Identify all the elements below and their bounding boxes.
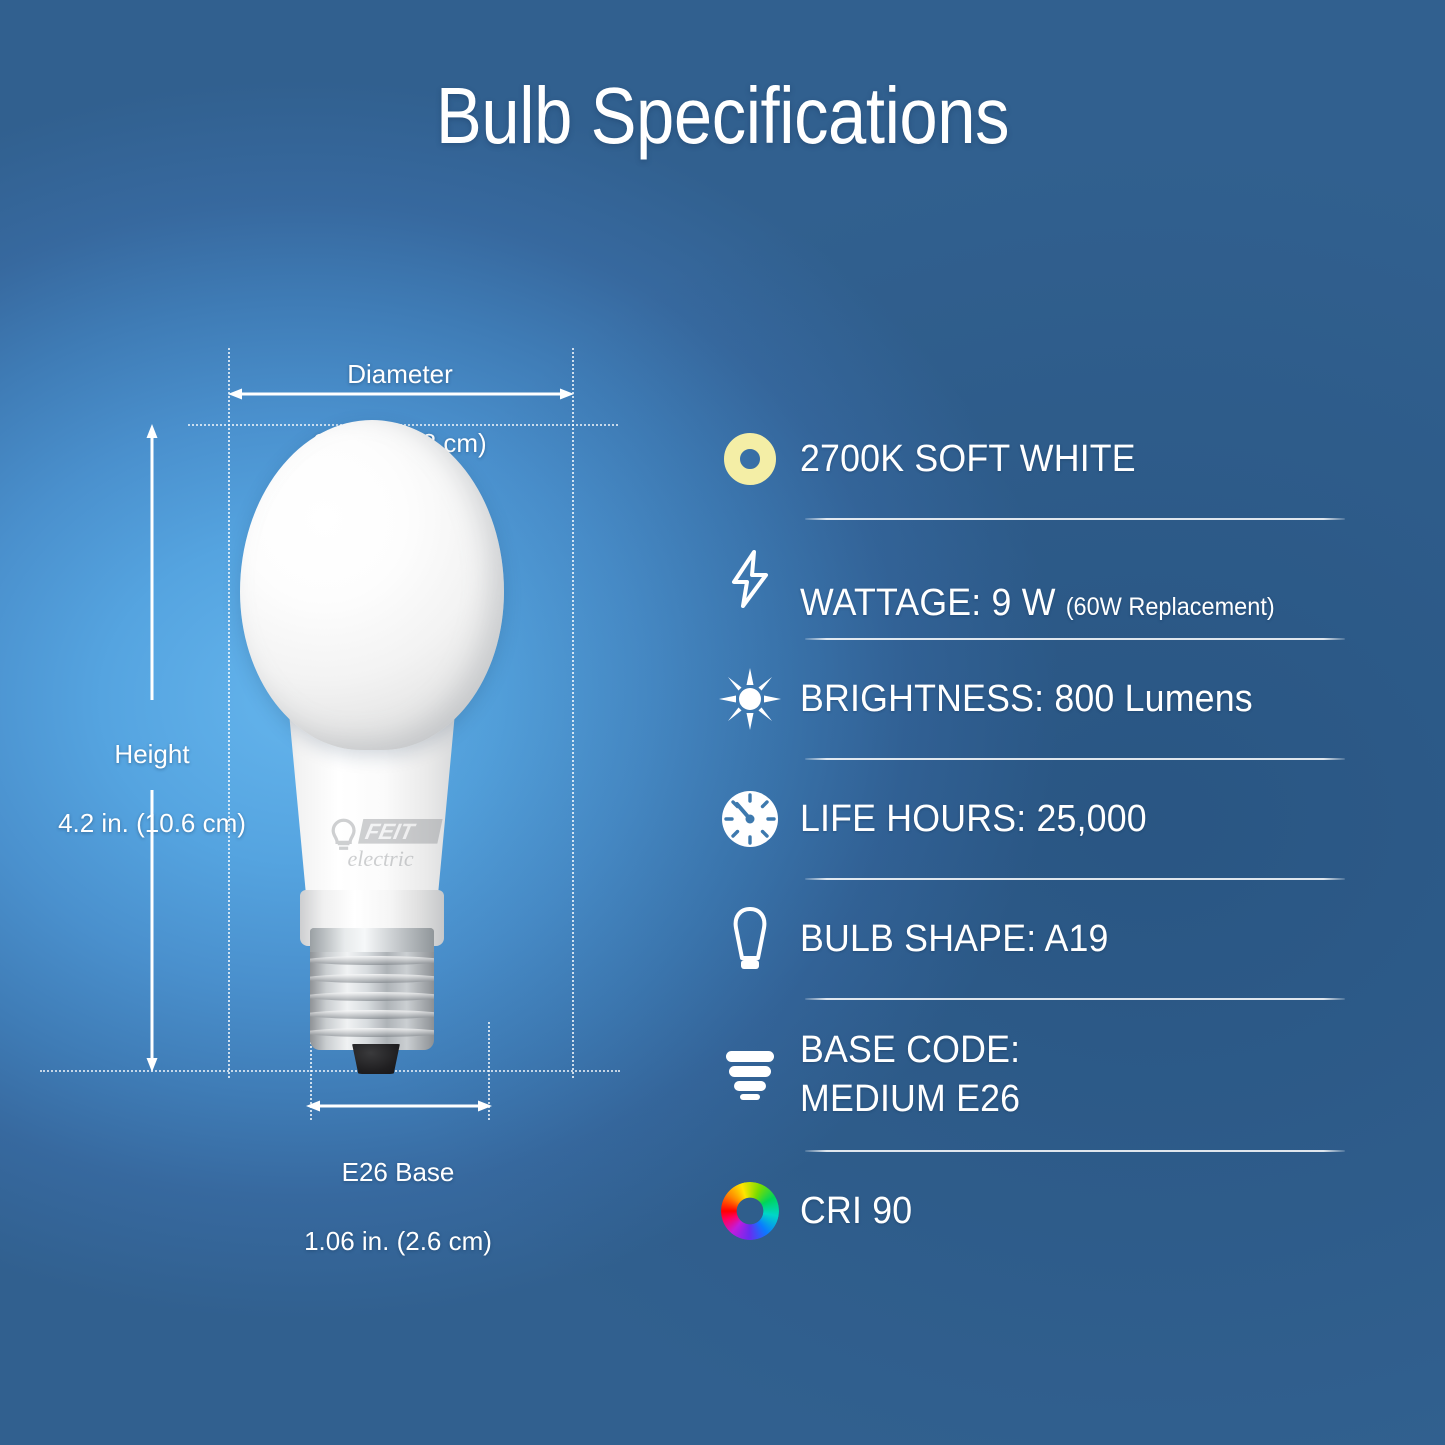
color-wheel-icon — [700, 1182, 800, 1240]
spec-row-brightness: BRIGHTNESS: 800 Lumens — [700, 640, 1400, 758]
bulb-image: FEIT electric — [232, 420, 512, 1080]
feit-electric-logo: FEIT electric — [328, 812, 458, 874]
base-label: E26 Base 1.06 in. (2.6 cm) — [228, 1120, 568, 1258]
yellow-ring-icon — [700, 433, 800, 485]
wattage-replacement: (60W Replacement) — [1066, 593, 1275, 621]
screw-thread — [310, 956, 434, 965]
spec-row-life-hours: LIFE HOURS: 25,000 — [700, 760, 1400, 878]
height-arrow-lower — [144, 790, 160, 1072]
spec-row-bulb-shape: BULB SHAPE: A19 — [700, 880, 1400, 998]
spec-label-bulb-shape: BULB SHAPE: A19 — [800, 915, 1109, 964]
base-arrow — [306, 1098, 492, 1114]
svg-text:FEIT: FEIT — [363, 819, 418, 844]
spec-label-brightness: BRIGHTNESS: 800 Lumens — [800, 675, 1253, 724]
base-label-value: 1.06 in. (2.6 cm) — [304, 1226, 492, 1256]
height-arrow-upper — [144, 424, 160, 700]
spec-label-color-temperature: 2700K SOFT WHITE — [800, 435, 1136, 484]
spec-row-color-temperature: 2700K SOFT WHITE — [700, 400, 1400, 518]
base-label-title: E26 Base — [342, 1157, 455, 1187]
spec-label-cri: CRI 90 — [800, 1187, 912, 1236]
bulb-screw-base — [310, 928, 434, 1050]
screw-thread — [310, 974, 434, 983]
screw-thread — [310, 1028, 434, 1037]
spec-label-base-code: BASE CODE: MEDIUM E26 — [800, 1026, 1020, 1123]
screw-base-tip — [350, 1044, 402, 1074]
spec-row-wattage: WATTAGE: 9 W (60W Replacement) — [700, 520, 1400, 638]
bulb-outline-icon — [700, 906, 800, 972]
height-label-title: Height — [114, 739, 189, 769]
lightning-bolt-icon — [700, 549, 800, 609]
guide-line-bulb-right — [572, 348, 574, 1078]
spec-label-wattage: WATTAGE: 9 W (60W Replacement) — [800, 530, 1275, 627]
bulb-dimension-diagram: Diameter 2.3 in. (5.8 cm) Height 4.2 in.… — [0, 0, 660, 1445]
screw-collar — [310, 928, 434, 952]
screw-thread — [310, 1010, 434, 1019]
sun-icon — [700, 668, 800, 730]
spec-row-cri: CRI 90 — [700, 1152, 1400, 1270]
clock-icon — [700, 790, 800, 848]
diameter-arrow — [228, 386, 574, 402]
spec-list: 2700K SOFT WHITE WATTAGE: 9 W (60W Repla… — [700, 400, 1400, 1270]
spec-row-base-code: BASE CODE: MEDIUM E26 — [700, 1000, 1400, 1150]
svg-text:electric: electric — [348, 846, 414, 871]
bulb-glass-dome — [240, 420, 504, 750]
screw-base-icon — [700, 1049, 800, 1101]
page-title: Bulb Specifications — [101, 70, 1344, 162]
spec-label-life-hours: LIFE HOURS: 25,000 — [800, 795, 1147, 844]
bulb-specifications-page: Bulb Specifications Diameter 2.3 in. (5.… — [0, 0, 1445, 1445]
wattage-value: WATTAGE: 9 W — [800, 582, 1066, 624]
diameter-label-title: Diameter — [347, 359, 452, 389]
screw-thread — [310, 992, 434, 1001]
